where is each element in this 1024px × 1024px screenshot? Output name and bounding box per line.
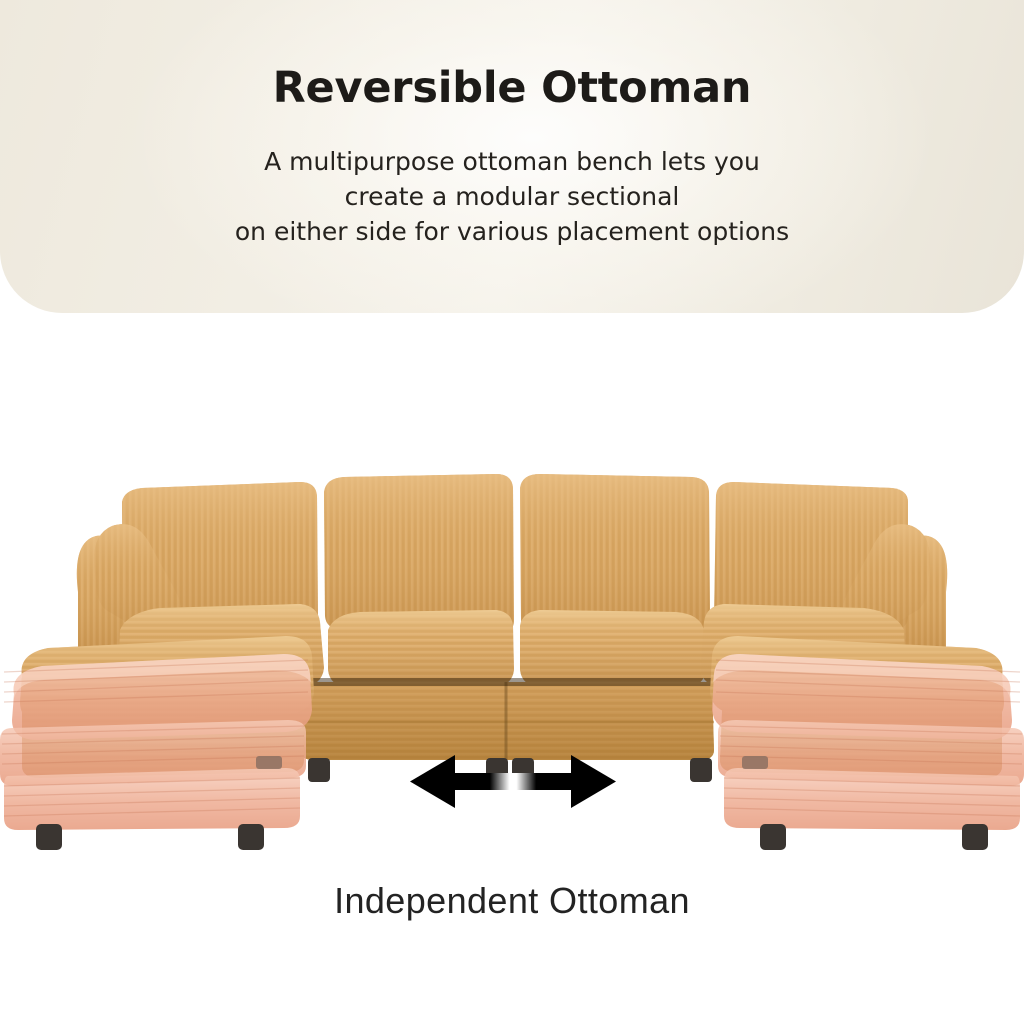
caption-independent-ottoman: Independent Ottoman: [0, 880, 1024, 922]
leg: [308, 758, 330, 782]
module-connector-left: [256, 756, 282, 769]
subtitle-line-2: create a modular sectional: [0, 179, 1024, 214]
arrow-head-left: [410, 755, 455, 808]
page-title: Reversible Ottoman: [0, 63, 1024, 113]
banner-subtitle: A multipurpose ottoman bench lets you cr…: [0, 144, 1024, 249]
leg: [962, 824, 988, 850]
leg: [36, 824, 62, 850]
subtitle-line-3: on either side for various placement opt…: [0, 214, 1024, 249]
ottoman-right-highlight: [712, 654, 1024, 830]
leg: [238, 824, 264, 850]
arrow-head-right: [571, 755, 616, 808]
product-feature-image: Reversible Ottoman A multipurpose ottoma…: [0, 0, 1024, 1024]
header-banner: Reversible Ottoman A multipurpose ottoma…: [0, 0, 1024, 313]
ottoman-left-highlight: [0, 654, 312, 830]
subtitle-line-1: A multipurpose ottoman bench lets you: [0, 144, 1024, 179]
sofa-base-center: [300, 678, 714, 760]
product-illustration: [0, 330, 1024, 890]
module-connector-right: [742, 756, 768, 769]
leg: [690, 758, 712, 782]
sectional-sofa-svg: [0, 330, 1024, 890]
leg: [760, 824, 786, 850]
